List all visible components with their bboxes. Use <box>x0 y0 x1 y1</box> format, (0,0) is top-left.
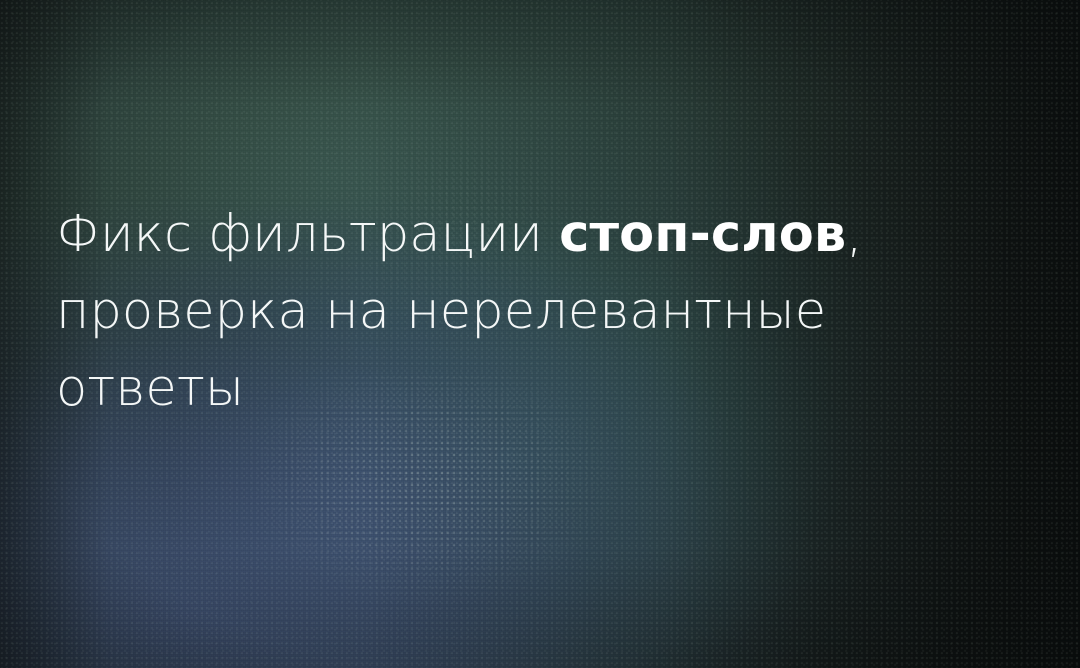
headline-text-leading: Фикс фильтрации <box>56 205 559 264</box>
headline-emphasis: стоп-слов <box>559 205 846 264</box>
banner-headline: Фикс фильтрации стоп-слов, проверка на н… <box>56 196 876 427</box>
banner-card: Фикс фильтрации стоп-слов, проверка на н… <box>0 0 1080 668</box>
